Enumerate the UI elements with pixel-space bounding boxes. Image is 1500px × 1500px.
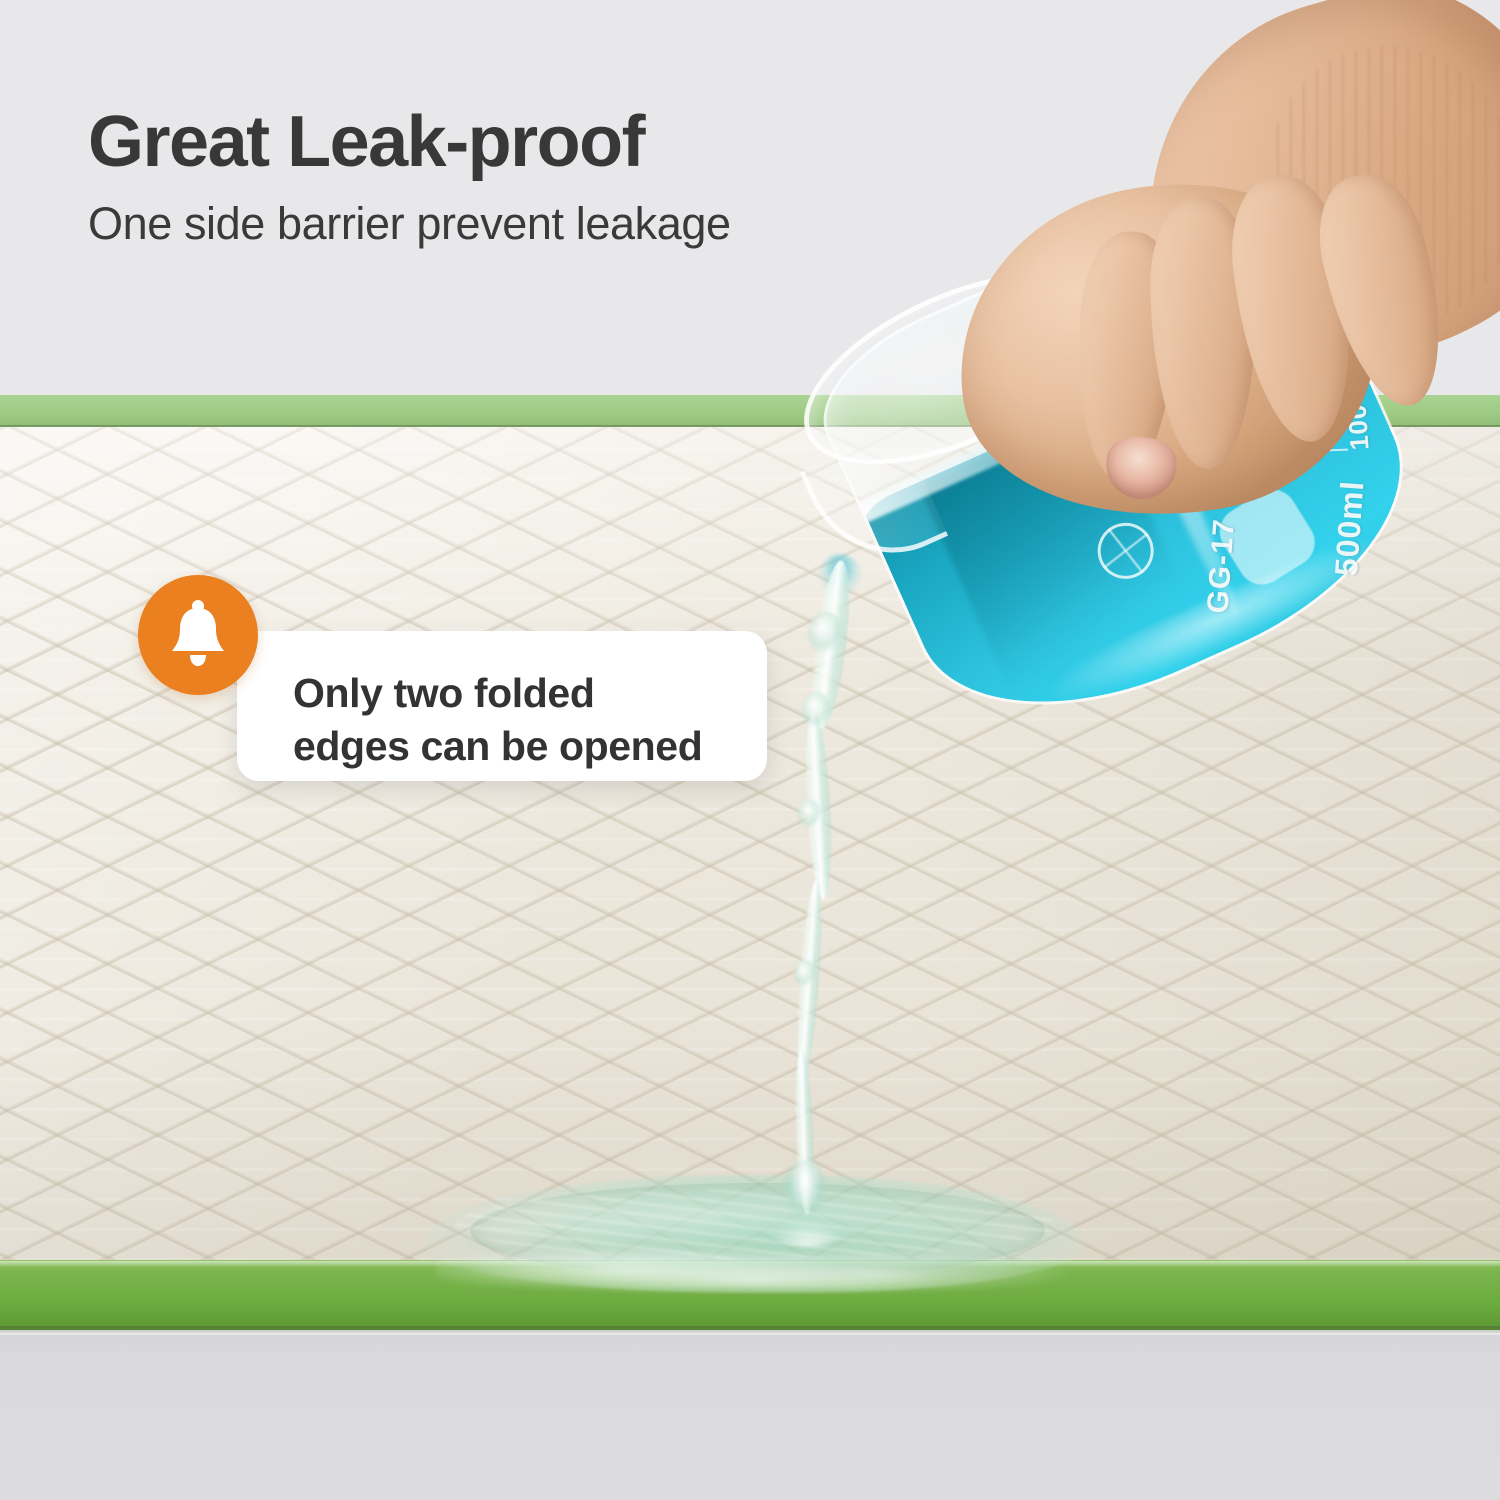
bell-icon — [166, 599, 230, 671]
floor-below-mat — [0, 1335, 1500, 1500]
stream-droplet — [794, 960, 816, 988]
liquid-puddle — [425, 1175, 1085, 1293]
page-title: Great Leak-proof — [88, 104, 1088, 180]
feature-callout: Only two folded edges can be opened — [138, 575, 778, 805]
bell-badge — [138, 575, 258, 695]
callout-text: Only two folded edges can be opened — [293, 667, 763, 774]
puddle-foam-edge — [435, 1237, 1075, 1291]
stream-droplet — [798, 800, 822, 830]
callout-line-2: edges can be opened — [293, 720, 763, 773]
callout-line-1: Only two folded — [293, 667, 763, 720]
mat-bottom-edge-shadow — [0, 1326, 1500, 1334]
hand-holding-beaker: 500 APPROX 300 200 100 GG-17 500ml — [838, 215, 1458, 780]
splash-crown — [762, 1200, 854, 1246]
stream-droplet — [802, 692, 832, 730]
promo-image-canvas: Great Leak-proof One side barrier preven… — [0, 0, 1500, 1500]
beaker-marking-volume: 500ml — [1328, 479, 1372, 577]
